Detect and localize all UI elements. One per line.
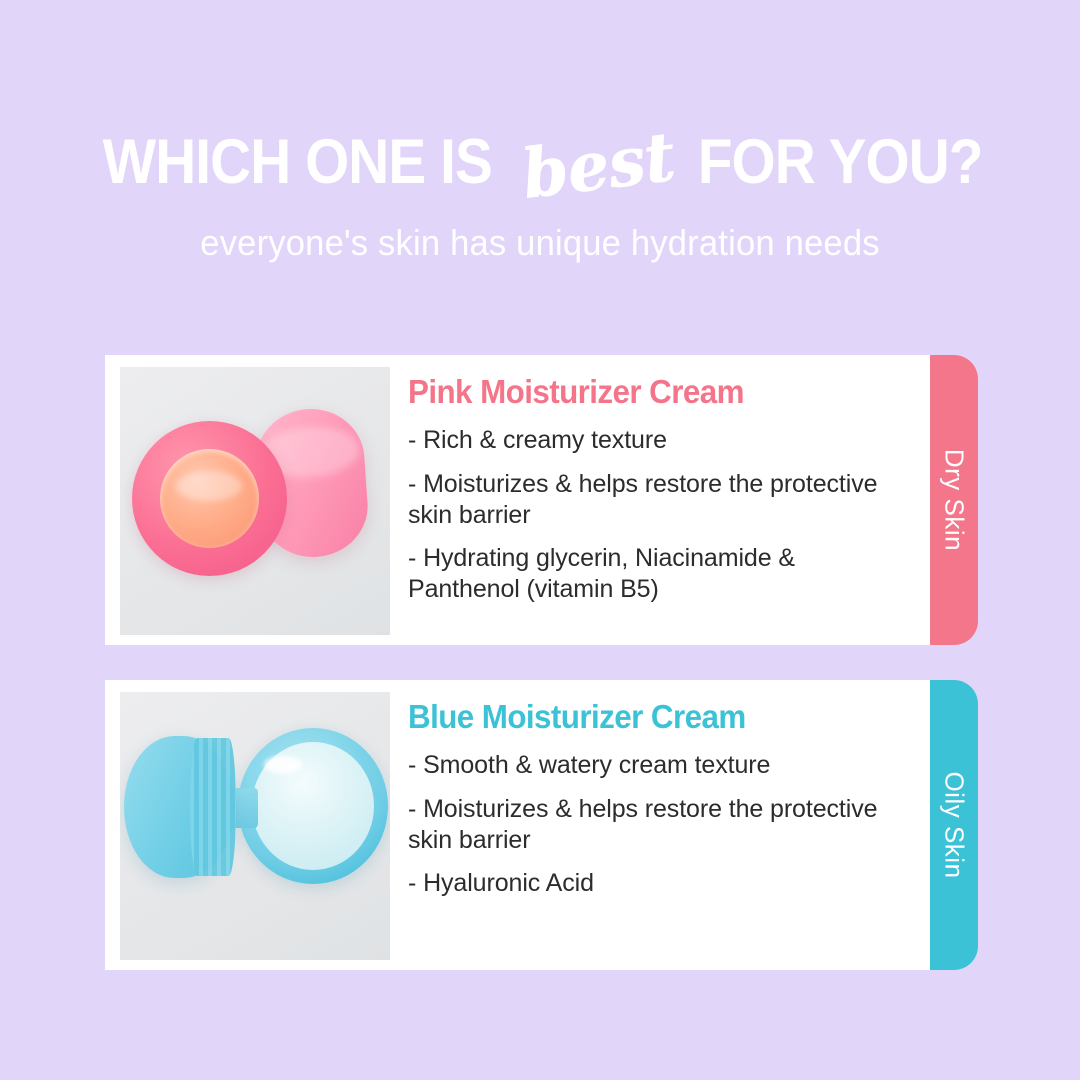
pink-jar-body <box>132 421 287 576</box>
product-bullet: - Smooth & watery cream texture <box>408 750 912 781</box>
product-bullet: - Moisturizes & helps restore the protec… <box>408 794 912 856</box>
product-photo-blue <box>120 692 390 960</box>
headline-script-word: best <box>518 123 678 209</box>
header-block: WHICH ONE IS best FOR YOU? everyone's sk… <box>0 128 1080 264</box>
headline-part-two: FOR YOU? <box>698 131 983 194</box>
blue-jar-body <box>238 728 388 884</box>
product-bullet: - Rich & creamy texture <box>408 425 912 456</box>
product-info-pink: Pink Moisturizer Cream - Rich & creamy t… <box>390 355 930 605</box>
page-title: WHICH ONE IS best FOR YOU? <box>0 128 1080 196</box>
pink-jar-icon <box>120 367 390 635</box>
skin-type-tab-oily[interactable]: Oily Skin <box>930 680 978 970</box>
product-title-blue: Blue Moisturizer Cream <box>408 698 887 736</box>
blue-cream-highlight <box>264 756 302 774</box>
product-info-blue: Blue Moisturizer Cream - Smooth & watery… <box>390 680 930 899</box>
skin-type-tab-label: Oily Skin <box>939 771 970 878</box>
blue-jar-lid-threads <box>190 738 236 876</box>
product-card-blue[interactable]: Blue Moisturizer Cream - Smooth & watery… <box>105 680 930 970</box>
page-subtitle: everyone's skin has unique hydration nee… <box>22 222 1059 264</box>
product-bullet: - Hyaluronic Acid <box>408 868 912 899</box>
pink-cream-highlight <box>176 471 242 501</box>
product-card-pink[interactable]: Pink Moisturizer Cream - Rich & creamy t… <box>105 355 930 645</box>
skin-type-tab-dry[interactable]: Dry Skin <box>930 355 978 645</box>
skin-type-tab-label: Dry Skin <box>939 449 970 551</box>
product-title-pink: Pink Moisturizer Cream <box>408 373 887 411</box>
headline-part-one: WHICH ONE IS <box>103 131 492 194</box>
blue-jar-icon <box>120 692 390 960</box>
blue-jar-cream <box>252 742 374 870</box>
pink-jar-cream <box>160 449 259 548</box>
product-photo-pink <box>120 367 390 635</box>
product-bullet: - Hydrating glycerin, Niacinamide & Pant… <box>408 543 912 605</box>
product-bullet: - Moisturizes & helps restore the protec… <box>408 469 912 531</box>
